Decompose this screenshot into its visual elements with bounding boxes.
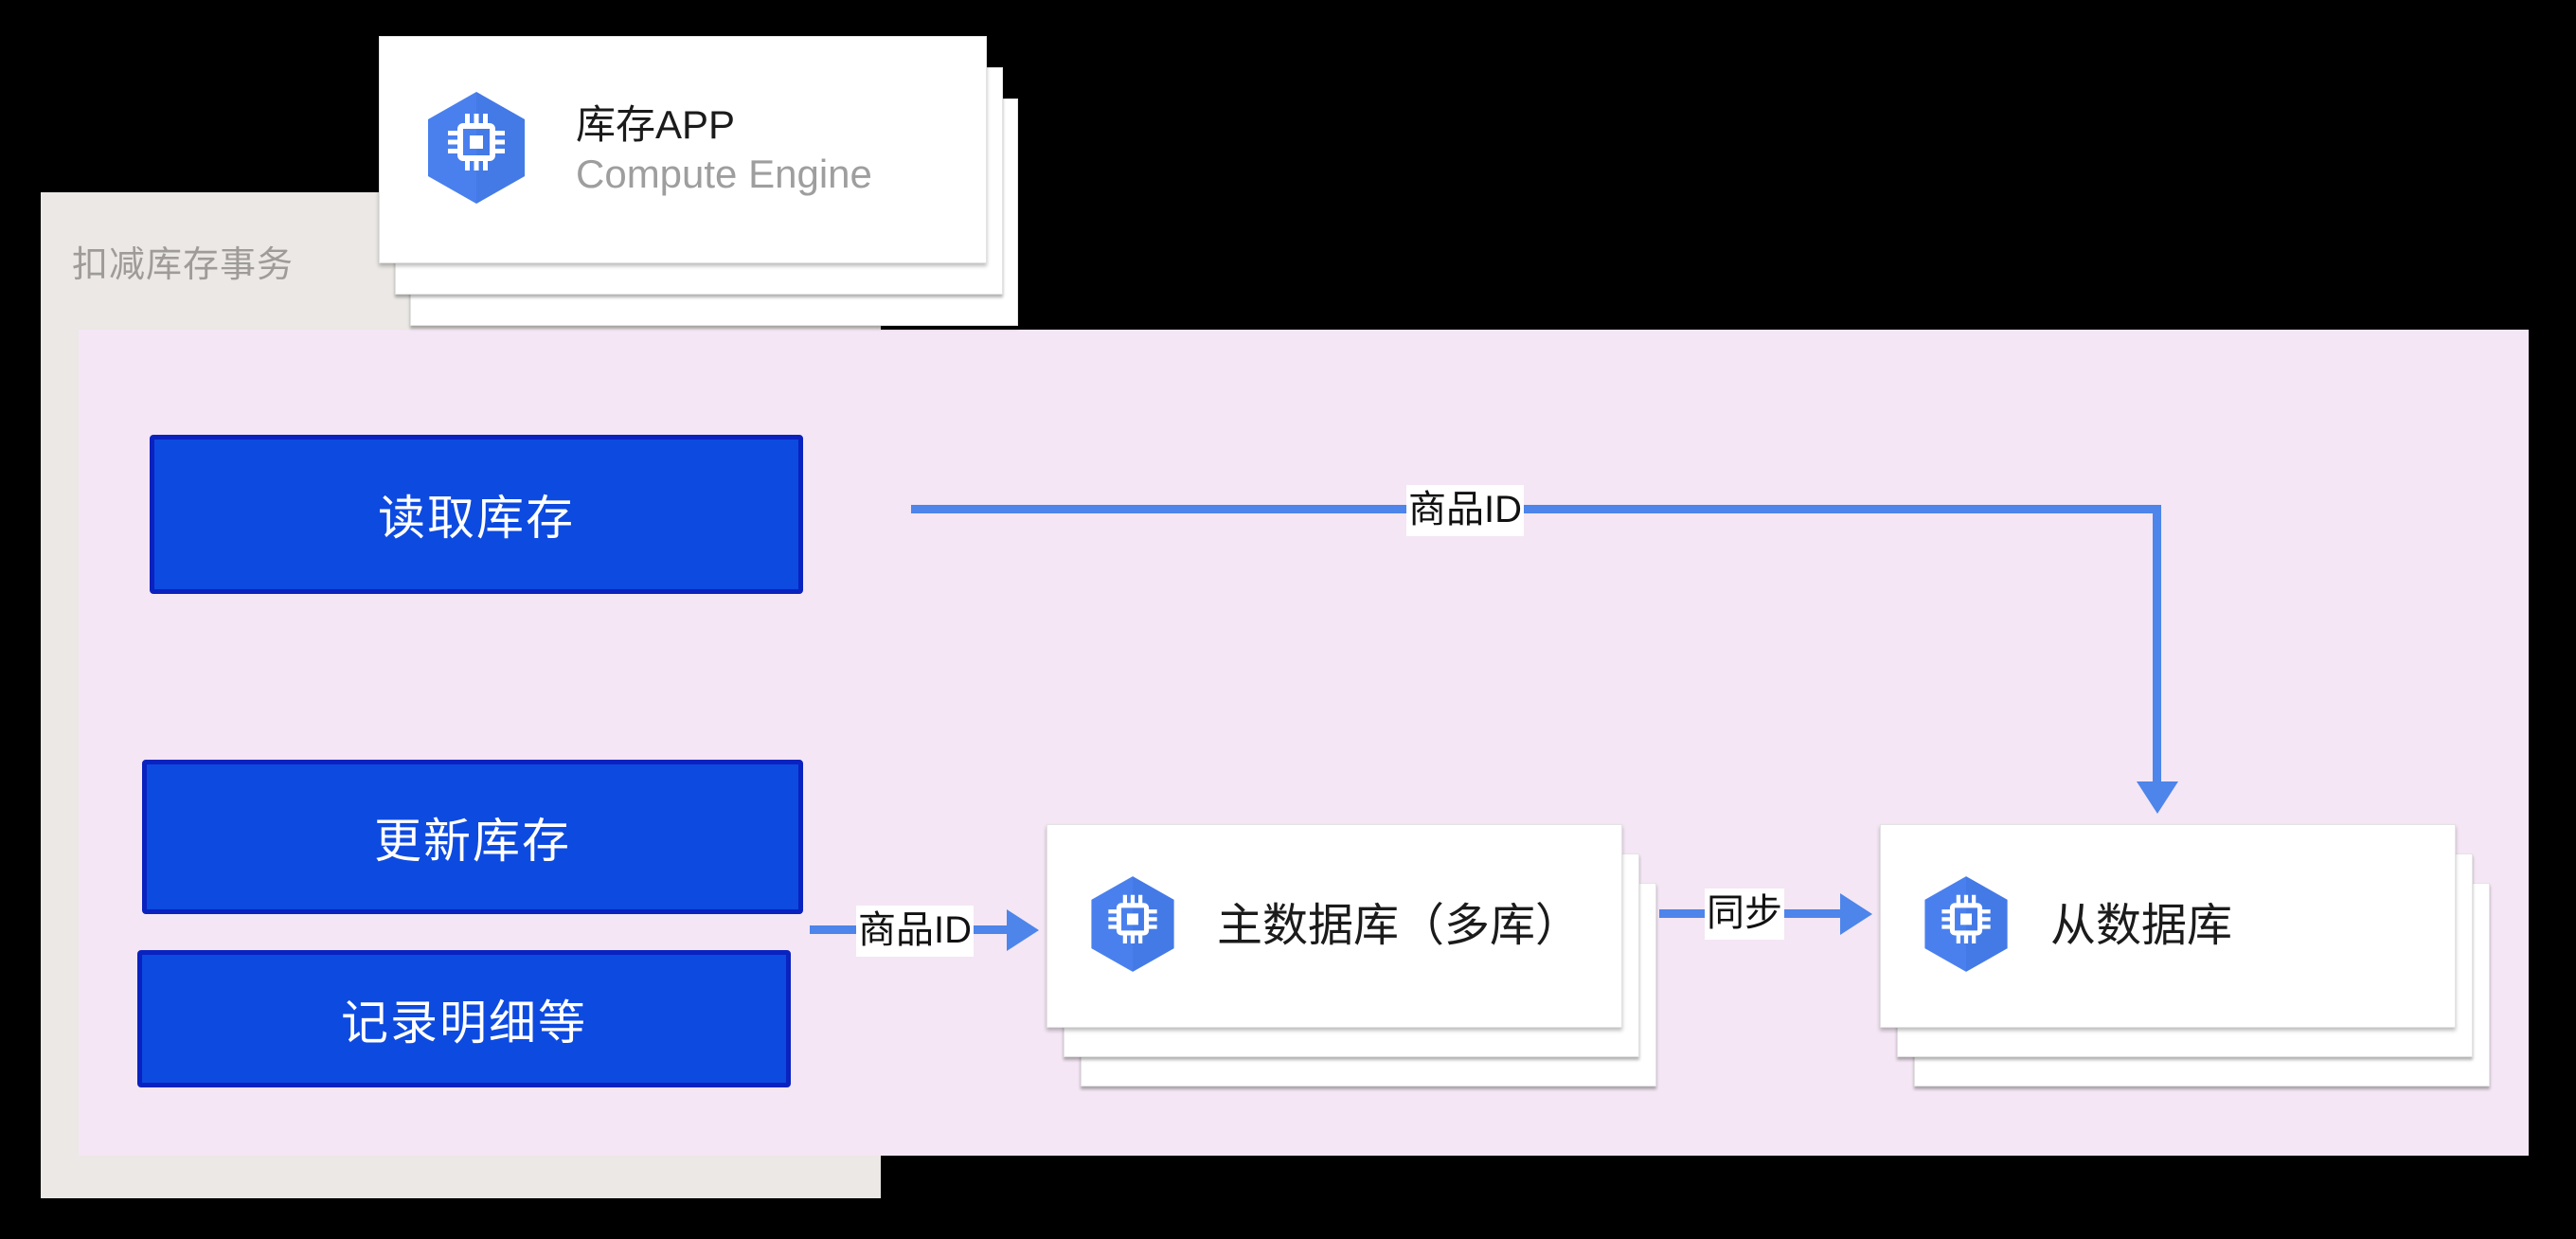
card-primary-database[interactable]: 主数据库（多库） bbox=[1046, 824, 1672, 1089]
gce-compute-engine-icon bbox=[1922, 874, 2011, 979]
edge-update-to-primary-arrowhead bbox=[1007, 909, 1039, 951]
card-replica-database-face[interactable]: 从数据库 bbox=[1880, 824, 2456, 1028]
edge-read-to-replica-label: 商品ID bbox=[1406, 485, 1524, 536]
diagram-canvas: 扣减库存事务 商品ID 商品ID 同步 读取库存 更新库存 记录明细等 bbox=[0, 0, 2576, 1239]
process-box-record-detail-label: 记录明细等 bbox=[341, 985, 587, 1053]
card-inventory-app-face[interactable]: 库存APP Compute Engine bbox=[379, 36, 987, 263]
card-inventory-app-title: 库存APP bbox=[576, 100, 872, 151]
card-inventory-app-text: 库存APP Compute Engine bbox=[576, 100, 872, 200]
card-inventory-app[interactable]: 库存APP Compute Engine bbox=[379, 36, 1023, 301]
edge-primary-to-replica-arrowhead bbox=[1840, 893, 1872, 935]
card-replica-database-title: 从数据库 bbox=[2050, 898, 2232, 955]
card-inventory-app-subtitle: Compute Engine bbox=[576, 150, 872, 200]
edge-read-to-replica-horizontal bbox=[911, 505, 2161, 513]
card-replica-database[interactable]: 从数据库 bbox=[1880, 824, 2505, 1089]
gce-compute-engine-icon bbox=[1088, 874, 1177, 979]
edge-update-to-primary-label: 商品ID bbox=[856, 906, 974, 957]
card-primary-database-text: 主数据库（多库） bbox=[1217, 898, 1581, 955]
edge-read-to-replica-arrowhead bbox=[2137, 781, 2178, 814]
process-box-update-inventory-label: 更新库存 bbox=[374, 803, 571, 871]
process-box-read-inventory-label: 读取库存 bbox=[378, 480, 575, 548]
gce-compute-engine-icon bbox=[424, 90, 528, 210]
process-box-update-inventory[interactable]: 更新库存 bbox=[142, 760, 803, 914]
edge-read-to-replica-vertical bbox=[2153, 505, 2161, 786]
process-box-read-inventory[interactable]: 读取库存 bbox=[150, 435, 803, 594]
card-primary-database-title: 主数据库（多库） bbox=[1217, 898, 1581, 955]
edge-primary-to-replica-label: 同步 bbox=[1705, 889, 1784, 940]
process-box-record-detail[interactable]: 记录明细等 bbox=[137, 950, 791, 1087]
card-replica-database-text: 从数据库 bbox=[2050, 898, 2232, 955]
card-primary-database-face[interactable]: 主数据库（多库） bbox=[1046, 824, 1622, 1028]
transaction-group-title: 扣减库存事务 bbox=[72, 235, 294, 287]
